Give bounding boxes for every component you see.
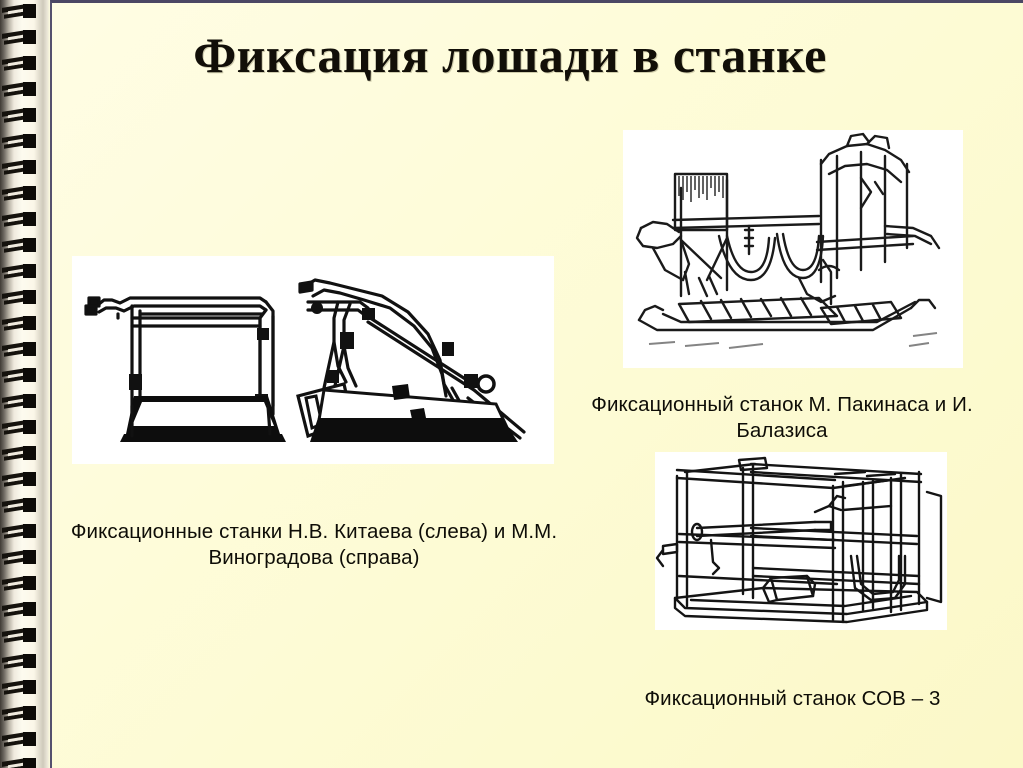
caption-fixation-stalls-kitaev-vinogradov: Фиксационные станки Н.В. Китаева (слева)…: [60, 519, 568, 571]
spiral-ring: [2, 56, 38, 71]
spiral-ring: [2, 446, 38, 461]
spiral-ring: [2, 524, 38, 539]
spiral-ring: [2, 706, 38, 721]
spiral-ring: [2, 732, 38, 747]
spiral-binding: [0, 0, 50, 768]
spiral-ring: [2, 264, 38, 279]
spiral-ring: [2, 394, 38, 409]
spiral-ring: [2, 160, 38, 175]
figure-fixation-stalls-kitaev-vinogradov: [72, 256, 554, 464]
spiral-ring: [2, 82, 38, 97]
slide-canvas: Фиксация лошади в станке: [0, 0, 1023, 768]
spiral-ring: [2, 342, 38, 357]
figure-fixation-stall-pakinas-balazis: [623, 130, 963, 368]
fixation-stall-sledge-drawing: [623, 130, 963, 368]
spiral-ring: [2, 758, 38, 768]
spiral-ring: [2, 290, 38, 305]
spiral-ring: [2, 602, 38, 617]
spiral-ring: [2, 186, 38, 201]
caption-fixation-stall-sov-3: Фиксационный станок СОВ – 3: [590, 686, 995, 712]
figure-fixation-stall-sov-3: [655, 452, 947, 630]
fixation-stalls-drawing: [72, 256, 554, 464]
spiral-ring: [2, 654, 38, 669]
spiral-ring: [2, 316, 38, 331]
spiral-ring: [2, 30, 38, 45]
spiral-ring: [2, 550, 38, 565]
spiral-ring: [2, 212, 38, 227]
caption-fixation-stall-pakinas-balazis: Фиксационный станок М. Пакинаса и И. Бал…: [556, 392, 1008, 444]
spiral-ring: [2, 238, 38, 253]
spiral-ring: [2, 680, 38, 695]
spiral-ring: [2, 108, 38, 123]
fixation-stall-sov3-drawing: [655, 452, 947, 630]
spiral-ring: [2, 134, 38, 149]
spiral-ring: [2, 420, 38, 435]
spiral-ring: [2, 472, 38, 487]
spiral-ring: [2, 4, 38, 19]
spiral-ring: [2, 498, 38, 513]
page-title: Фиксация лошади в станке: [70, 26, 950, 84]
spiral-ring: [2, 628, 38, 643]
spiral-ring: [2, 368, 38, 383]
spiral-ring: [2, 576, 38, 591]
